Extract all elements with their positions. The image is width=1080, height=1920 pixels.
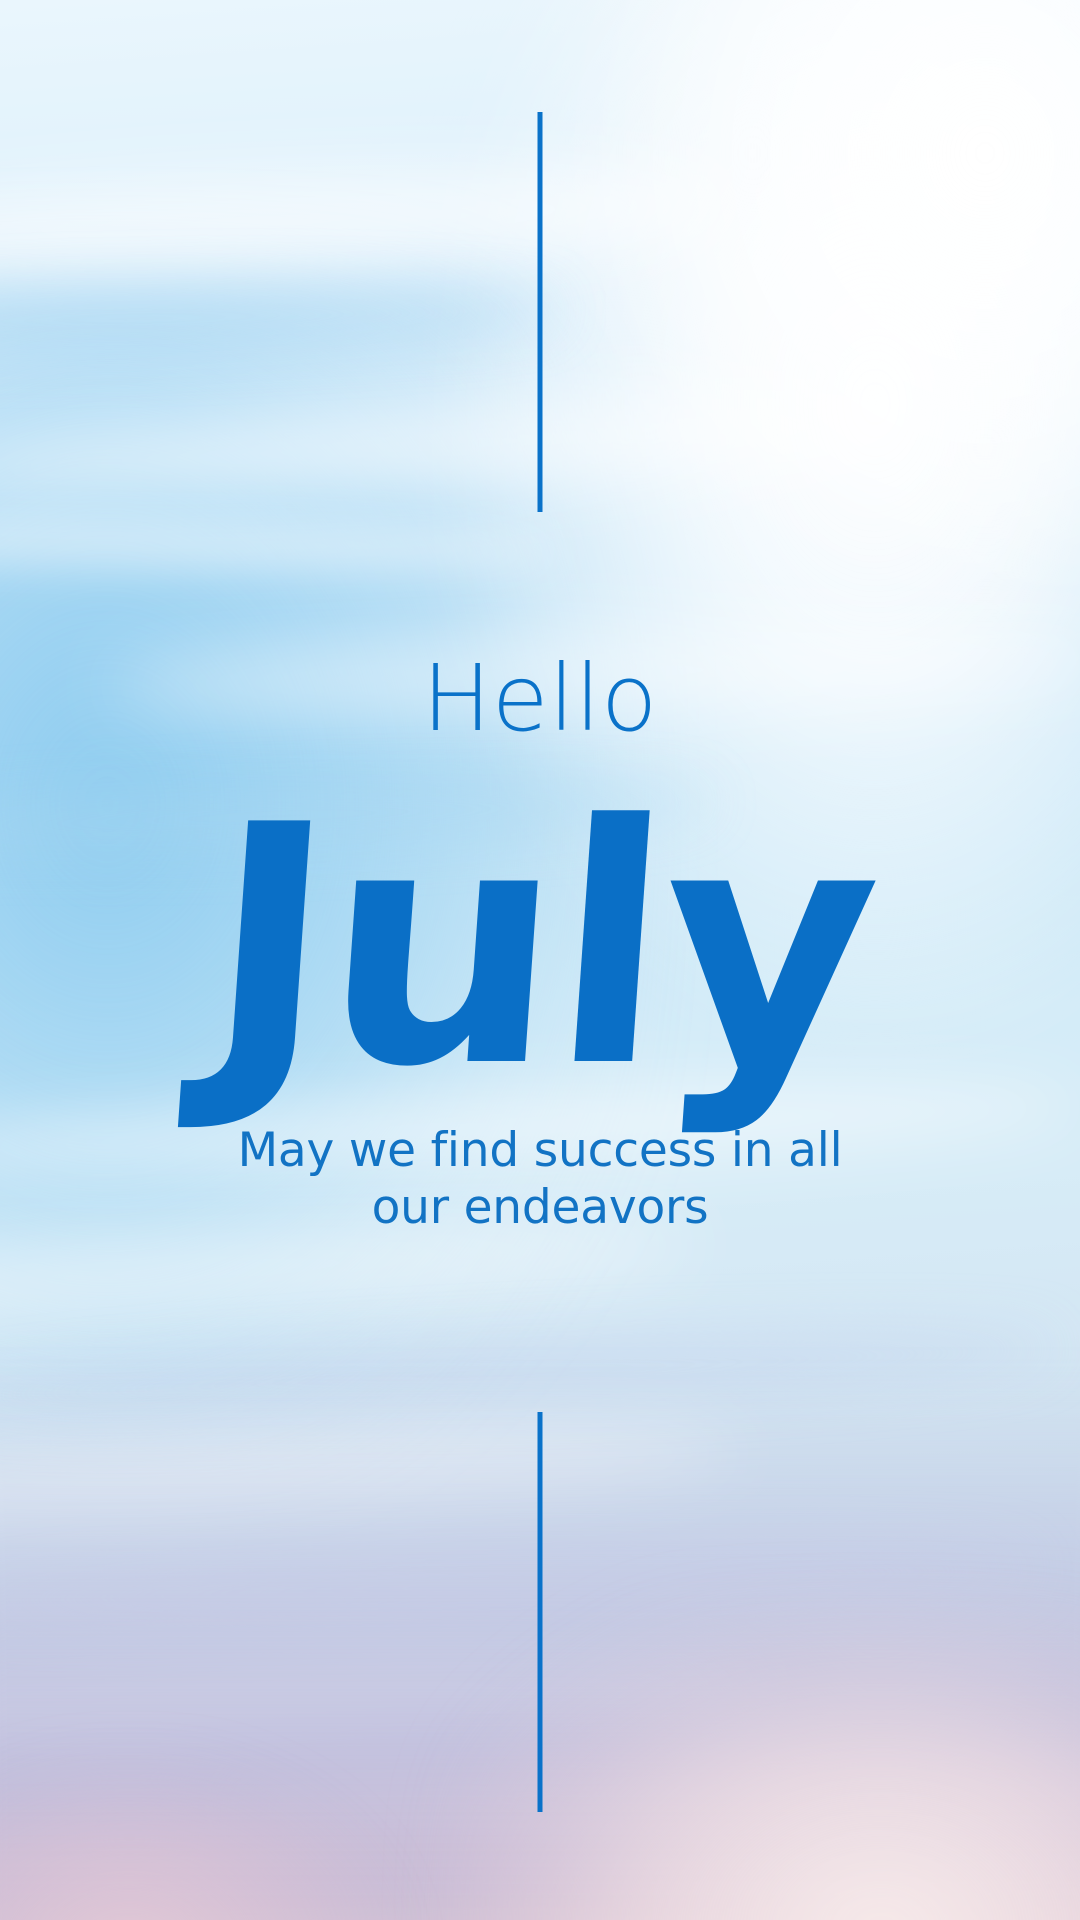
top-vertical-rule (538, 112, 543, 512)
poster-content: Hello July May we find success in all ou… (0, 0, 1080, 1920)
month-title: July (0, 782, 1080, 1112)
tagline-text: May we find success in all our endeavors (230, 1122, 850, 1237)
poster-canvas: Hello July May we find success in all ou… (0, 0, 1080, 1920)
bottom-vertical-rule (538, 1412, 543, 1812)
greeting-text: Hello (0, 653, 1080, 745)
